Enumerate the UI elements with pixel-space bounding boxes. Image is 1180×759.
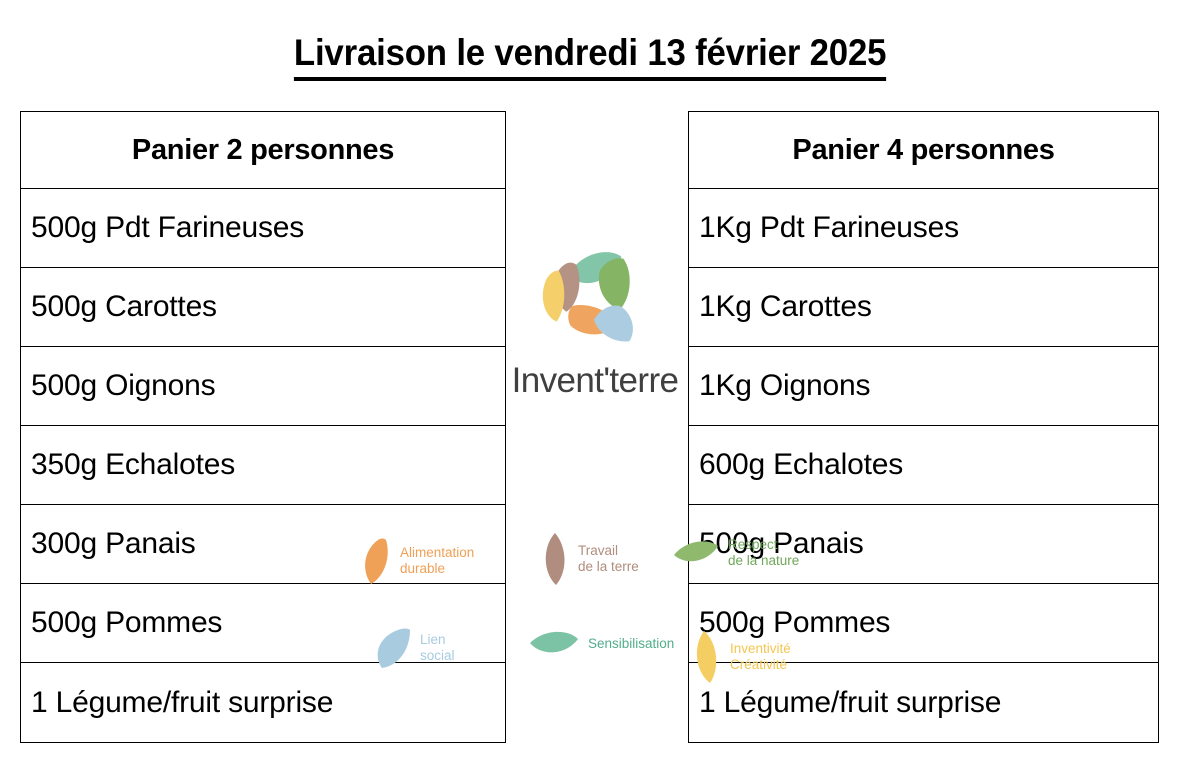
invent-terre-logo-icon: [533, 243, 651, 355]
table-row: 300g Panais: [21, 505, 506, 584]
basket-item: 500g Pommes: [21, 584, 506, 663]
table-row: 1Kg Oignons: [689, 347, 1159, 426]
basket-item: 500g Oignons: [21, 347, 506, 426]
table-row: 1Kg Pdt Farineuses: [689, 189, 1159, 268]
logo-petal-yellow: [543, 271, 564, 322]
value-sensibilisation: Sensibilisation: [528, 629, 674, 659]
page-title-text: Livraison le vendredi 13 février 2025: [294, 32, 886, 81]
brand-name: Invent'terre: [497, 361, 693, 401]
basket-item: 350g Echalotes: [21, 426, 506, 505]
table-header-row: Panier 4 personnes: [689, 112, 1159, 189]
brown-leaf-icon: [540, 531, 570, 587]
basket-item: 1Kg Carottes: [689, 268, 1159, 347]
basket-item: 500g Carottes: [21, 268, 506, 347]
basket-item: 600g Echalotes: [689, 426, 1159, 505]
logo-petal-blue: [594, 306, 633, 342]
table-row: 1 Légume/fruit surprise: [689, 663, 1159, 743]
table-row: 500g Pommes: [21, 584, 506, 663]
basket-item: 1 Légume/fruit surprise: [21, 663, 506, 743]
basket-table-2-personnes: Panier 2 personnes 500g Pdt Farineuses 5…: [20, 111, 506, 743]
table-header-row: Panier 2 personnes: [21, 112, 506, 189]
value-travail-de-la-terre: Travail de la terre: [540, 531, 639, 587]
basket-item: 300g Panais: [21, 505, 506, 584]
basket-header-4-personnes: Panier 4 personnes: [689, 112, 1159, 189]
table-row: 600g Echalotes: [689, 426, 1159, 505]
table-row: 500g Panais: [689, 505, 1159, 584]
basket-item: 500g Pdt Farineuses: [21, 189, 506, 268]
brand-logo: Invent'terre: [497, 243, 687, 418]
table-row: 1 Légume/fruit surprise: [21, 663, 506, 743]
logo-petal-teal: [574, 252, 621, 283]
basket-item: 500g Pommes: [689, 584, 1159, 663]
value-label: Sensibilisation: [588, 636, 674, 652]
basket-item: 1Kg Pdt Farineuses: [689, 189, 1159, 268]
logo-petal-brown: [555, 263, 580, 312]
table-row: 500g Pdt Farineuses: [21, 189, 506, 268]
basket-table-4-personnes: Panier 4 personnes 1Kg Pdt Farineuses 1K…: [688, 111, 1159, 743]
page-title: Livraison le vendredi 13 février 2025: [0, 32, 1180, 81]
basket-item: 1 Légume/fruit surprise: [689, 663, 1159, 743]
table-row: 500g Pommes: [689, 584, 1159, 663]
basket-item: 1Kg Oignons: [689, 347, 1159, 426]
table-row: 350g Echalotes: [21, 426, 506, 505]
teal-leaf-icon: [528, 629, 580, 659]
basket-header-2-personnes: Panier 2 personnes: [21, 112, 506, 189]
table-row: 1Kg Carottes: [689, 268, 1159, 347]
table-row: 500g Carottes: [21, 268, 506, 347]
value-label: Travail de la terre: [578, 543, 639, 576]
table-row: 500g Oignons: [21, 347, 506, 426]
logo-petal-green: [599, 258, 630, 310]
logo-petal-orange: [568, 305, 619, 334]
basket-item: 500g Panais: [689, 505, 1159, 584]
